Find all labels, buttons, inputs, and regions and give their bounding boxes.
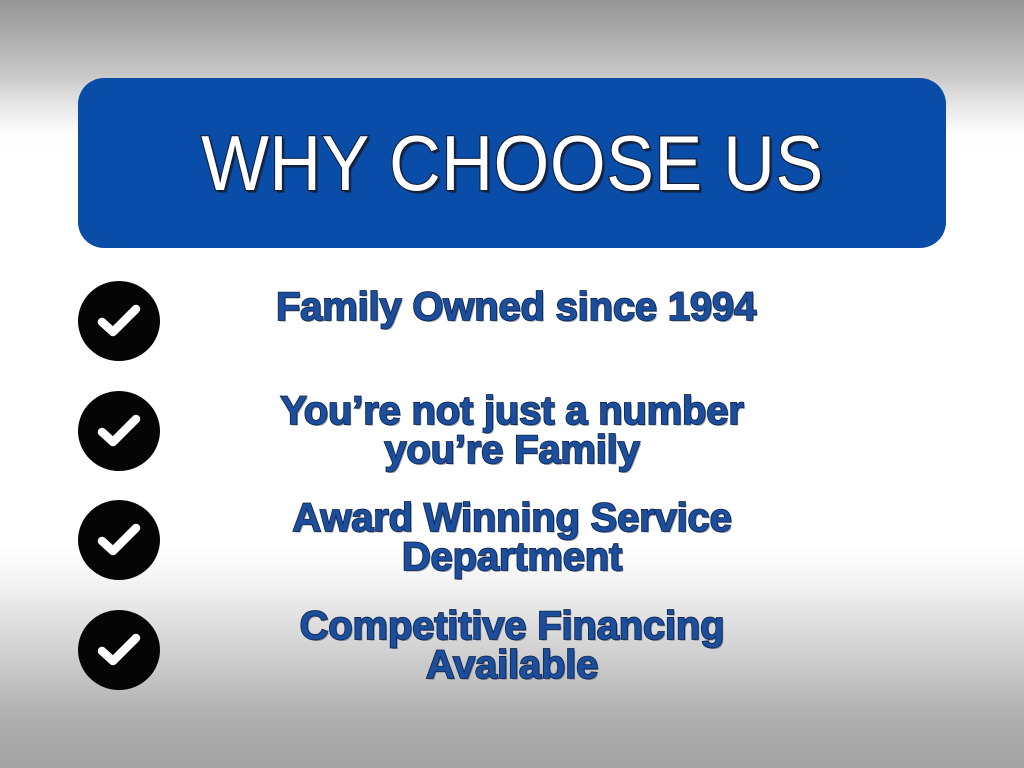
list-item-line2: you’re Family bbox=[176, 431, 848, 470]
list-item-line1: Award Winning Service bbox=[292, 496, 731, 540]
slide-canvas: WHY CHOOSE US Family Owned since 1994 Yo… bbox=[0, 0, 1024, 768]
list-item-text: Family Owned since 1994 bbox=[186, 288, 846, 327]
check-circle-icon bbox=[78, 391, 160, 471]
page-title: WHY CHOOSE US bbox=[201, 124, 824, 202]
list-item-line1: You’re not just a number bbox=[280, 389, 743, 433]
list-item-text: Competitive Financing Available bbox=[176, 607, 848, 685]
title-banner: WHY CHOOSE US bbox=[78, 78, 946, 248]
list-item-line2: Available bbox=[176, 646, 848, 685]
check-circle-icon bbox=[78, 610, 160, 690]
list-item-text: Award Winning Service Department bbox=[176, 499, 848, 577]
check-circle-icon bbox=[78, 281, 160, 361]
list-item-line1: Competitive Financing bbox=[300, 604, 725, 648]
list-item-text: You’re not just a number you’re Family bbox=[176, 392, 848, 470]
list-item-line1: Family Owned since 1994 bbox=[276, 285, 756, 329]
check-circle-icon bbox=[78, 500, 160, 580]
list-item-line2: Department bbox=[176, 538, 848, 577]
